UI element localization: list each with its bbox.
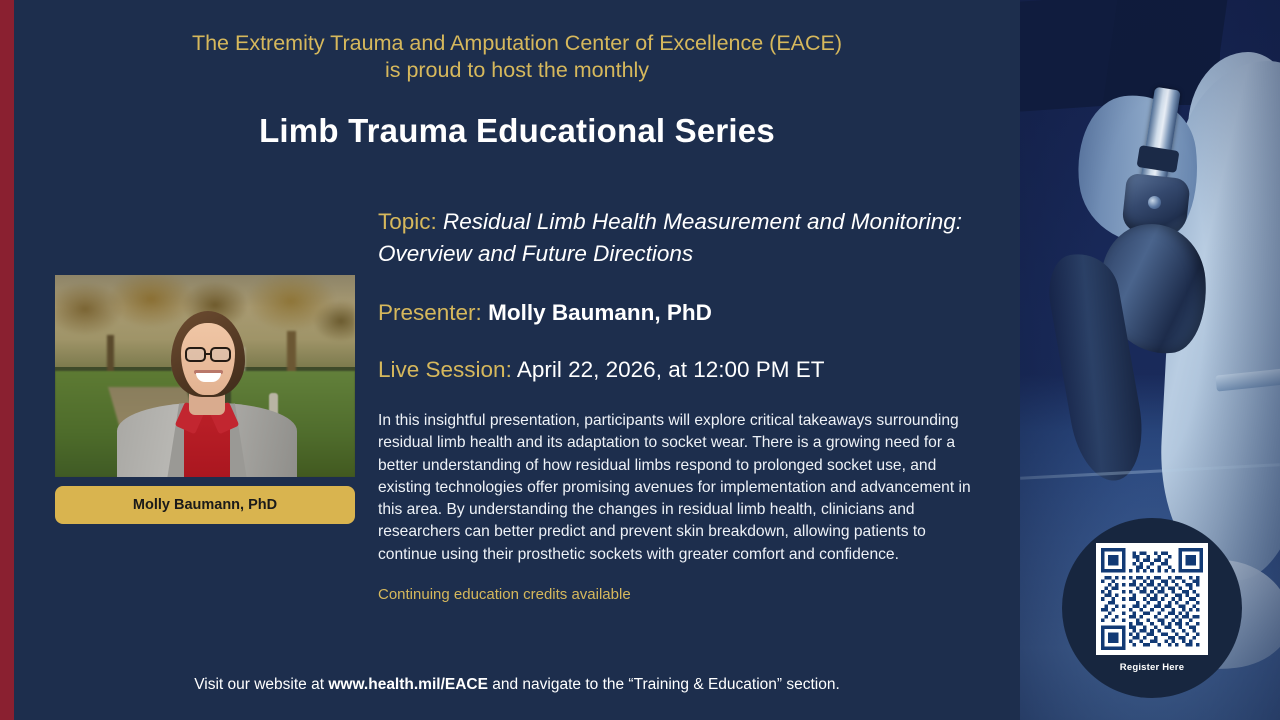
topic-label: Topic: (378, 209, 437, 234)
presenter-row: Presenter: Molly Baumann, PhD (378, 298, 978, 328)
footer-text-before: Visit our website at (194, 676, 328, 693)
register-qr-badge[interactable]: Register Here (1062, 518, 1242, 698)
flyer-header: The Extremity Trauma and Amputation Cent… (14, 30, 1020, 150)
presenter-label: Presenter: (378, 300, 482, 325)
footer-url[interactable]: www.health.mil/EACE (328, 676, 488, 693)
photo-eyeglass-left (185, 347, 206, 362)
topic-value: Residual Limb Health Measurement and Mon… (378, 209, 962, 266)
live-session-row: Live Session: April 22, 2026, at 12:00 P… (378, 355, 978, 385)
live-session-label: Live Session: (378, 357, 512, 382)
org-line-1: The Extremity Trauma and Amputation Cent… (14, 30, 1020, 57)
session-details: Topic: Residual Limb Health Measurement … (378, 206, 978, 603)
footer-text-after: and navigate to the “Training & Educatio… (488, 676, 840, 693)
photo-eyeglass-right (210, 347, 231, 362)
presenter-value: Molly Baumann, PhD (488, 300, 712, 325)
speaker-card: Molly Baumann, PhD (55, 275, 355, 524)
qr-caption-label: Register Here (1120, 662, 1184, 673)
photo-eyeglass-bridge (206, 353, 212, 355)
topic-row: Topic: Residual Limb Health Measurement … (378, 206, 978, 270)
speaker-headshot-photo (55, 275, 355, 477)
footer-website-line: Visit our website at www.health.mil/EACE… (14, 676, 1020, 694)
flyer-canvas: Register Here The Extremity Trauma and A… (0, 0, 1280, 720)
qr-code-image[interactable] (1096, 543, 1208, 655)
continuing-education-note: Continuing education credits available (378, 586, 978, 603)
org-line-2: is proud to host the monthly (14, 57, 1020, 84)
speaker-name-badge: Molly Baumann, PhD (55, 486, 355, 524)
abstract-paragraph: In this insightful presentation, partici… (378, 410, 976, 566)
qr-code-svg (1101, 548, 1203, 650)
page-title: Limb Trauma Educational Series (14, 112, 1020, 150)
left-accent-stripe (0, 0, 14, 720)
live-session-value: April 22, 2026, at 12:00 PM ET (517, 357, 825, 382)
